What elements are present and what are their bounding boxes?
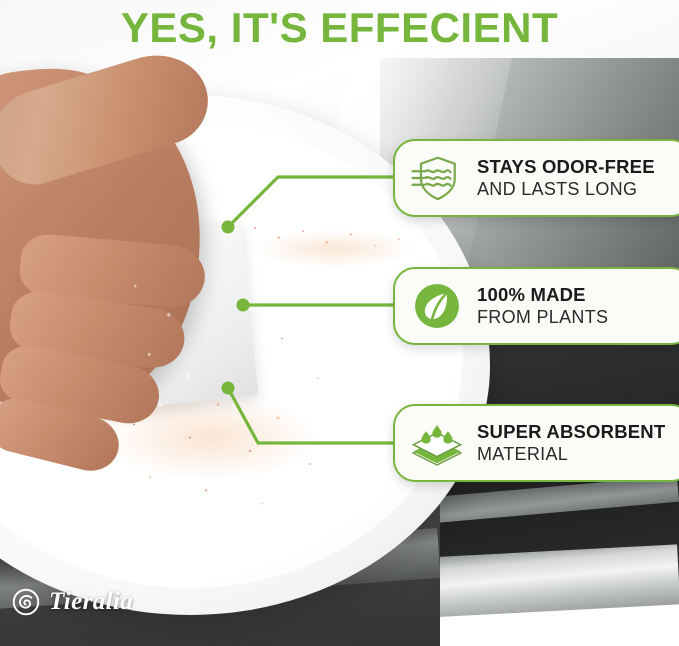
product-feature-image: YES, IT'S EFFECIENT STAYS ODOR-FREE: [0, 0, 679, 646]
leaf-circle-icon: [409, 278, 465, 334]
feature-line2: FROM PLANTS: [477, 307, 608, 327]
brand-logo: Tieralia: [12, 588, 133, 616]
brand-name: Tieralia: [49, 588, 133, 616]
feature-card-odor-free-text: STAYS ODOR-FREE AND LASTS LONG: [477, 157, 655, 200]
feature-card-plant-based-text: 100% MADE FROM PLANTS: [477, 285, 608, 328]
feature-line2: AND LASTS LONG: [477, 179, 655, 199]
shield-odor-waves-icon: [409, 150, 465, 206]
layered-droplets-icon: [409, 415, 465, 471]
feature-line2: MATERIAL: [477, 444, 665, 464]
feature-card-absorbent-text: SUPER ABSORBENT MATERIAL: [477, 422, 665, 465]
headline: YES, IT'S EFFECIENT: [0, 0, 679, 56]
feature-line1: 100% MADE: [477, 285, 608, 306]
spiral-swirl-icon: [12, 588, 40, 616]
feature-card-absorbent[interactable]: SUPER ABSORBENT MATERIAL: [393, 404, 679, 482]
feature-card-plant-based[interactable]: 100% MADE FROM PLANTS: [393, 267, 679, 345]
feature-line1: STAYS ODOR-FREE: [477, 157, 655, 178]
feature-line1: SUPER ABSORBENT: [477, 422, 665, 443]
feature-card-odor-free[interactable]: STAYS ODOR-FREE AND LASTS LONG: [393, 139, 679, 217]
